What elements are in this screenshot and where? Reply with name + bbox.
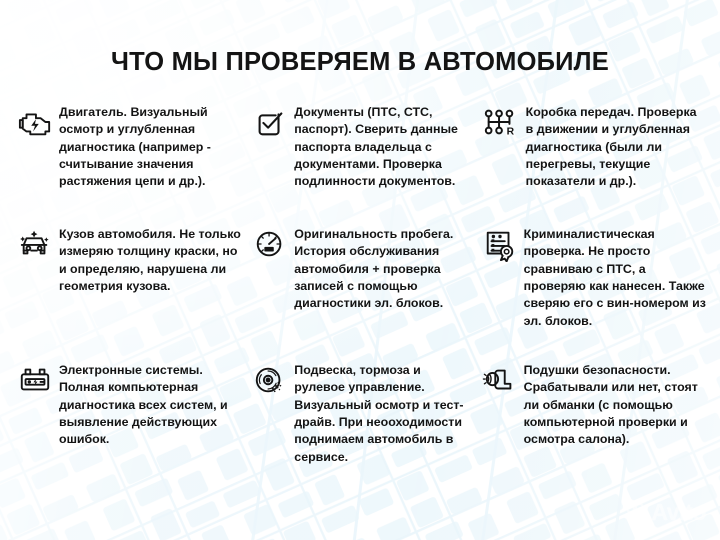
checklist-row: Электронные системы. Полная компьютерная… [16,362,712,486]
checklist-item-body: Срабатывали или нет, стоят ли обманки (с… [524,380,698,446]
battery-icon [16,363,54,397]
checklist-item-text: Электронные системы. Полная компьютерная… [59,362,251,449]
checklist-item-suspension-brakes[interactable]: Подвеска, тормоза и рулевое управление. … [251,362,480,486]
checklist-item-text: Коробка передач. Проверка в движении и у… [524,104,712,191]
checklist-item-text: Криминалистическая проверка. Не просто с… [524,226,712,330]
checklist-item-lead: Кузов автомобиля. [59,227,176,241]
checklist-item-lead: Подушки безопасности. [524,363,671,377]
checklist-row: Двигатель. Визуальный осмотр и углубленн… [16,104,712,226]
checklist-item-lead: Двигатель. [59,105,127,119]
checklist-item-text: Подушки безопасности. Срабатывали или не… [524,362,712,449]
checklist-item-car-body[interactable]: Кузов автомобиля. Не только измеряю толщ… [16,226,251,362]
gearbox-icon: R [481,105,519,139]
brake-disc-icon [251,363,289,397]
svg-text:R: R [506,126,514,137]
checklist-item-body: Полная компьютерная диагностика всех сис… [59,380,228,446]
checklist-row: Кузов автомобиля. Не только измеряю толщ… [16,226,712,362]
checklist-item-documents[interactable]: Документы (ПТС, СТС, паспорт). Сверить д… [251,104,480,226]
odometer-icon [251,227,289,261]
checklist-item-text: Оригинальность пробега. История обслужив… [294,226,480,313]
checklist-item-engine[interactable]: Двигатель. Визуальный осмотр и углубленн… [16,104,251,226]
checklist-item-lead: Подвеска, тормоза и рулевое управление. [294,363,424,394]
checklist-item-lead: Коробка передач. [526,105,634,119]
checklist-item-airbags[interactable]: Подушки безопасности. Срабатывали или не… [481,362,712,486]
checklist-item-forensic-check[interactable]: Криминалистическая проверка. Не просто с… [481,226,712,362]
checklist-item-body: История обслуживания автомобиля + провер… [294,244,443,310]
checklist-item-mileage[interactable]: Оригинальность пробега. История обслужив… [251,226,480,362]
checklist-item-electronics[interactable]: Электронные системы. Полная компьютерная… [16,362,251,486]
car-body-icon [16,227,54,261]
checklist-item-lead: Оригинальность пробега. [294,227,453,241]
checklist-item-text: Двигатель. Визуальный осмотр и углубленн… [59,104,251,191]
checklist-item-lead: Электронные системы. [59,363,203,377]
checkbox-document-icon [251,105,289,139]
checklist-item-text: Подвеска, тормоза и рулевое управление. … [294,362,480,466]
airbag-seat-icon [481,363,519,397]
page-title: ЧТО МЫ ПРОВЕРЯЕМ В АВТОМОБИЛЕ [0,48,720,77]
checklist-item-text: Кузов автомобиля. Не только измеряю толщ… [59,226,251,295]
checklist-item-gearbox[interactable]: R Коробка передач. Проверка в движении и… [481,104,712,226]
forensic-document-icon [481,228,519,262]
engine-icon [16,105,54,139]
infographic-content: ЧТО МЫ ПРОВЕРЯЕМ В АВТОМОБИЛЕ Двигатель.… [0,0,720,540]
checklist-grid: Двигатель. Визуальный осмотр и углубленн… [16,104,712,486]
checklist-item-text: Документы (ПТС, СТС, паспорт). Сверить д… [294,104,480,191]
checklist-item-body: Визуальный осмотр и тест-драйв. При неоо… [294,398,463,464]
